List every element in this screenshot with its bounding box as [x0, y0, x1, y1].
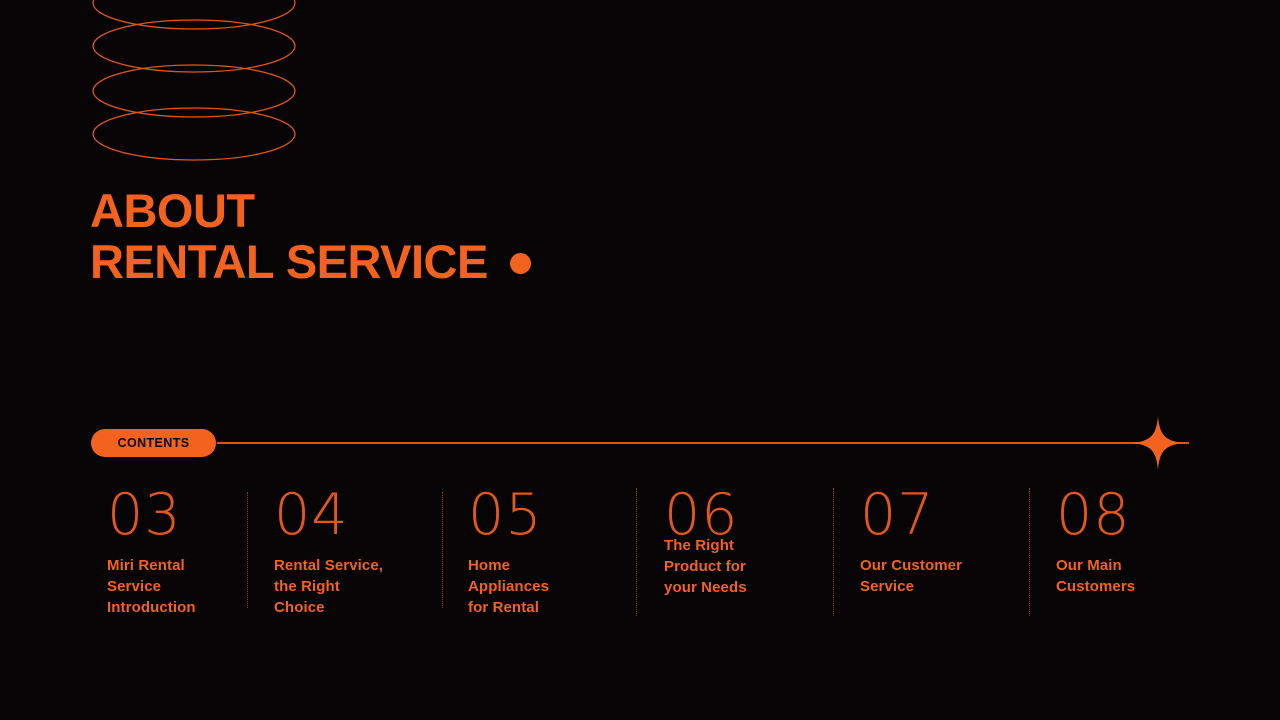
label-line: Service: [860, 578, 914, 595]
contents-item-05[interactable]: 05 Home Appliances for Rental: [468, 486, 628, 618]
contents-item-04[interactable]: 04 Rental Service, the Right Choice: [274, 486, 434, 618]
label-line: Rental Service,: [274, 557, 383, 574]
page-title: ABOUT RENTAL SERVICE: [90, 185, 531, 287]
label-line: The Right: [664, 537, 734, 554]
contents-columns: 03 Miri Rental Service Introduction 04 R…: [107, 486, 1207, 626]
contents-label: The Right Product for your Needs: [664, 535, 824, 598]
title-line-2: RENTAL SERVICE: [90, 236, 488, 287]
label-line: Service: [107, 578, 161, 595]
column-divider: [833, 488, 834, 616]
label-line: for Rental: [468, 599, 539, 616]
label-line: Home: [468, 557, 510, 574]
contents-label: Our Customer Service: [860, 555, 1020, 597]
label-line: Choice: [274, 599, 325, 616]
contents-number: 05: [468, 486, 628, 544]
contents-number: 07: [860, 486, 1020, 544]
label-line: Miri Rental: [107, 557, 185, 574]
column-divider: [636, 488, 637, 616]
contents-item-07[interactable]: 07 Our Customer Service: [860, 486, 1020, 597]
column-divider: [247, 492, 248, 608]
label-line: Our Main: [1056, 557, 1122, 574]
contents-number: 04: [274, 486, 434, 544]
label-line: Appliances: [468, 578, 549, 595]
title-bullet-dot: [510, 253, 531, 274]
label-line: Introduction: [107, 599, 196, 616]
spiral-coil-decoration: [88, 0, 300, 158]
column-divider: [442, 492, 443, 608]
four-point-sparkle-icon: [1131, 416, 1185, 470]
contents-badge: CONTENTS: [91, 429, 216, 457]
label-line: Customers: [1056, 578, 1135, 595]
title-line-1: ABOUT: [90, 185, 531, 236]
contents-number: 08: [1056, 486, 1216, 544]
label-line: Our Customer: [860, 557, 962, 574]
contents-item-06[interactable]: 06 The Right Product for your Needs: [664, 486, 824, 616]
contents-label: Rental Service, the Right Choice: [274, 555, 434, 618]
contents-label: Our Main Customers: [1056, 555, 1216, 597]
label-line: Product for: [664, 558, 746, 575]
column-divider: [1029, 488, 1030, 616]
slide-root: ABOUT RENTAL SERVICE CONTENTS 03 Miri Re…: [0, 0, 1280, 720]
contents-label: Miri Rental Service Introduction: [107, 555, 267, 618]
contents-item-08[interactable]: 08 Our Main Customers: [1056, 486, 1216, 597]
contents-number: 03: [107, 486, 267, 544]
contents-label: Home Appliances for Rental: [468, 555, 628, 618]
contents-item-03[interactable]: 03 Miri Rental Service Introduction: [107, 486, 267, 618]
label-line: your Needs: [664, 579, 747, 596]
contents-bar: CONTENTS: [91, 429, 1189, 457]
contents-rule: [217, 442, 1189, 444]
label-line: the Right: [274, 578, 340, 595]
